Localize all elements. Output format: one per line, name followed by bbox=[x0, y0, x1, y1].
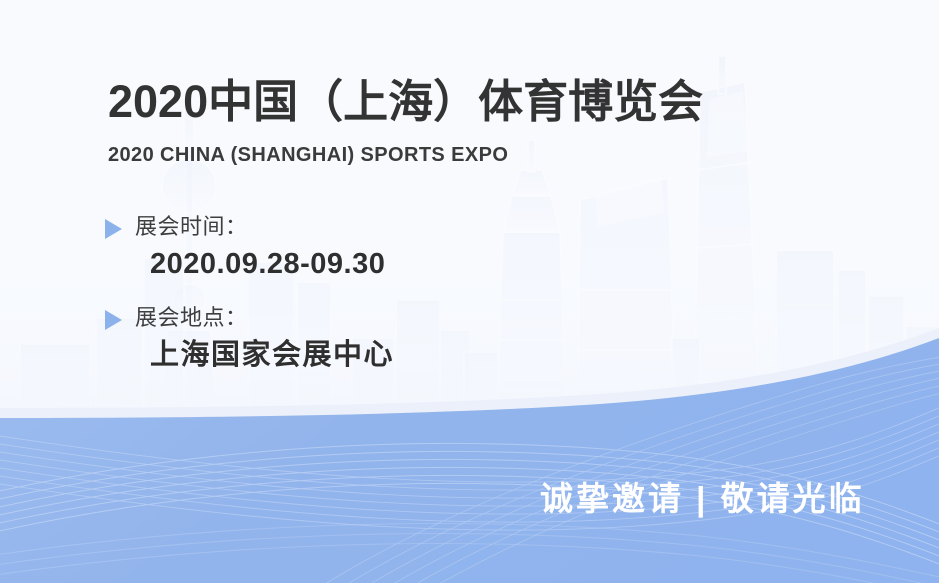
detail-value-time: 2020.09.28-09.30 bbox=[150, 245, 385, 283]
detail-exhibition-time: 展会时间： 2020.09.28-09.30 bbox=[105, 212, 385, 283]
triangle-right-icon bbox=[105, 219, 122, 239]
detail-label-venue: 展会地点： bbox=[135, 303, 248, 333]
invitation-text: 诚挚邀请 | 敬请光临 bbox=[540, 477, 865, 521]
page-title: 2020中国（上海）体育博览会 bbox=[108, 76, 703, 128]
triangle-right-icon bbox=[105, 310, 122, 330]
detail-exhibition-venue: 展会地点： 上海国家会展中心 bbox=[105, 303, 394, 374]
expo-poster: 2020中国（上海）体育博览会 2020 CHINA (SHANGHAI) SP… bbox=[0, 0, 939, 583]
page-subtitle: 2020 CHINA (SHANGHAI) SPORTS EXPO bbox=[108, 142, 508, 168]
detail-value-venue: 上海国家会展中心 bbox=[150, 336, 394, 374]
detail-label-time: 展会时间： bbox=[135, 212, 248, 242]
